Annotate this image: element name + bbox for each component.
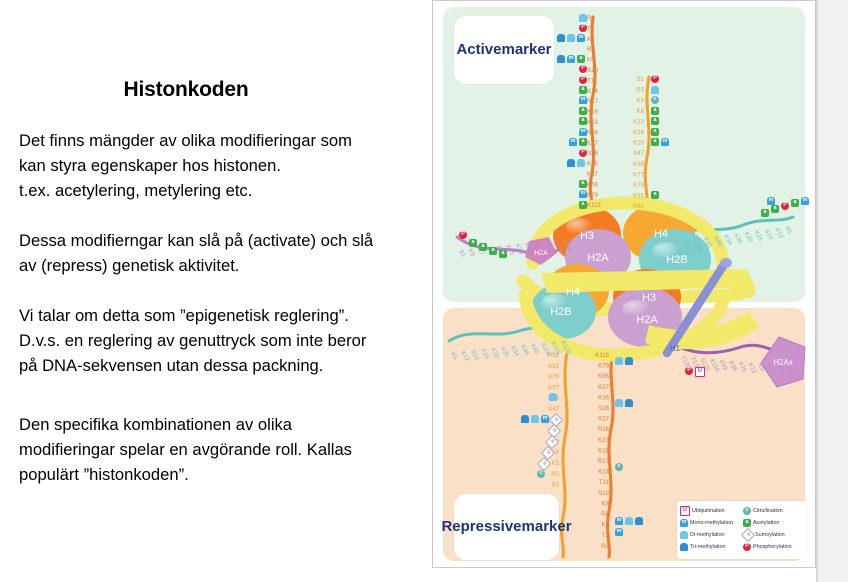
legend-item-tri-methylation: Tri-methylation: [680, 541, 741, 553]
page-right-margin: [818, 0, 848, 582]
modification-badge: a: [489, 247, 497, 255]
modification-badge: [549, 393, 557, 401]
residue-label: K20: [633, 140, 644, 147]
residue-label: K79: [548, 374, 559, 381]
modification-badge: P: [781, 202, 789, 210]
modification-badge: m: [541, 415, 549, 423]
residue-label: K18: [598, 447, 609, 454]
slide-canvas: Histonkoden Det finns mängder av olika m…: [0, 0, 848, 582]
residue-label: K4: [602, 522, 610, 529]
modification-badge: [625, 357, 633, 365]
residue-label: K5: [783, 225, 793, 235]
modification-badge: c: [651, 96, 659, 104]
modification-badge: P: [579, 76, 587, 84]
residue-label: K12: [773, 227, 785, 240]
modification-badge: a: [579, 117, 587, 125]
residue-label: K115: [587, 202, 601, 209]
modification-badge: a: [791, 199, 799, 207]
residue-label: K36: [598, 394, 609, 401]
modification-badge: a: [577, 55, 585, 63]
residue-label: K91: [633, 193, 644, 200]
modification-badge: a: [771, 205, 779, 213]
linker-histone-label: H1: [670, 344, 681, 353]
residue-label: S14: [469, 349, 481, 362]
residue-label: S10: [587, 67, 598, 74]
modification-badge: m: [579, 96, 587, 104]
residue-label: S10: [598, 490, 609, 497]
modification-badge: m: [615, 517, 623, 525]
sumoylation-icon: s: [741, 528, 755, 542]
acetylation-icon: a: [743, 519, 751, 527]
core-label-h3-bottom: H3: [642, 292, 656, 304]
residue-label: K36: [587, 161, 598, 168]
tail-labels-h2b-bottom: K5K12S14K15K20K30K34K46K85K108K116K120: [449, 340, 572, 363]
residue-label: K85: [529, 343, 541, 356]
histone-code-figure: H3 H4 H2A H2B H4 H3 H2B H2A H1 H2Ax H2A …: [432, 0, 816, 568]
figure-inner: H3 H4 H2A H2B H4 H3 H2B H2A H1 H2Ax H2A …: [437, 5, 811, 563]
modification-badge: a: [579, 138, 587, 146]
modification-badge: P: [459, 231, 467, 239]
legend-label: Mono-methylation: [690, 520, 733, 526]
legend-item-ubiquitination: UUbiquitination: [680, 505, 741, 517]
residue-label: K46: [519, 344, 531, 357]
modification-badge: P: [579, 65, 587, 73]
modification-badge: [531, 415, 539, 423]
modification-badge: m: [577, 34, 585, 42]
residue-label: K5: [449, 351, 459, 361]
modification-badge: [521, 415, 529, 423]
residue-label: S1: [457, 249, 467, 259]
residue-label: T11: [599, 479, 610, 486]
core-label-h2b-bottom: H2B: [550, 306, 571, 318]
residue-label: K77: [548, 384, 559, 391]
residue-label: K14: [598, 469, 609, 476]
residue-label: K27: [598, 416, 609, 423]
modification-badge: a: [579, 180, 587, 188]
residue-label: S28: [598, 405, 609, 412]
residue-label: R17: [587, 98, 599, 105]
modification-badge: m: [615, 528, 623, 536]
residue-label: K79: [633, 182, 644, 189]
ubiquitination-icon: U: [680, 506, 690, 516]
residue-label: R92: [633, 203, 645, 210]
residue-label: K56: [598, 373, 609, 380]
residue-label: K91: [548, 363, 559, 370]
residue-label: R8: [587, 46, 595, 53]
modification-badge: [557, 55, 565, 63]
residue-label: K37: [598, 384, 609, 391]
residue-label: K18: [587, 109, 598, 116]
modification-badge: a: [651, 128, 659, 136]
residue-label: R26: [587, 129, 599, 136]
residue-label: K14: [587, 88, 598, 95]
modification-badge: a: [579, 107, 587, 115]
modification-badge: a: [651, 138, 659, 146]
body-paragraph-3: Vi talar om detta som ”epigenetisk regle…: [19, 303, 431, 378]
modification-badge: a: [479, 243, 487, 251]
modification-badge: c: [537, 470, 545, 478]
tail-labels-h4-top: S1R3K5K8K12K16K20S47K59K77K79K91R92: [633, 76, 645, 210]
legend-label: Tri-methylation: [690, 544, 725, 550]
core-label-h2b-top: H2B: [666, 254, 687, 266]
modification-badge: [625, 517, 633, 525]
residue-label: K30: [499, 346, 511, 359]
citrullination-icon: c: [743, 507, 751, 515]
modification-badge: a: [579, 201, 587, 209]
legend-label: Ubiquitination: [692, 508, 725, 514]
mono-methylation-icon: m: [680, 519, 688, 527]
residue-label: R17: [598, 458, 610, 465]
residue-label: K4: [587, 36, 595, 43]
residue-label: K9: [602, 500, 610, 507]
modification-badge: [567, 34, 575, 42]
legend-label: Citrullination: [753, 508, 783, 514]
legend-item-acetylation: aAcetylation: [743, 517, 804, 529]
modification-badge: a: [499, 250, 507, 258]
residue-label: S1: [637, 76, 645, 83]
active-marker-label: Activemarker: [454, 16, 554, 84]
legend-item-sumoylation: sSumoylation: [743, 529, 804, 541]
modification-badge: [577, 159, 585, 167]
residue-label: K115: [595, 352, 609, 359]
di-methylation-icon: [680, 531, 688, 539]
residue-label: K27: [587, 140, 598, 147]
residue-label: R26: [598, 426, 610, 433]
modification-badge: a: [469, 239, 477, 247]
modification-badge: c: [615, 463, 623, 471]
residue-label: K20: [743, 231, 755, 244]
repressive-marker-label: Repressivemarker: [454, 494, 559, 560]
legend-label: Acetylation: [753, 520, 779, 526]
legend-item-phosphorylation: PPhosphorylation: [743, 541, 804, 553]
residue-label: K5: [467, 248, 477, 258]
modification-badge: a: [651, 191, 659, 199]
residue-label: T3: [587, 25, 595, 32]
modification-badge: [579, 14, 587, 22]
legend-item-mono-methylation: mMono-methylation: [680, 517, 741, 529]
residue-label: S47: [633, 150, 644, 157]
modification-badge: m: [801, 197, 809, 205]
residue-label: K79: [598, 363, 609, 370]
residue-label: K15: [479, 348, 491, 361]
legend-item-di-methylation: Di-methylation: [680, 529, 741, 541]
legend-item-citrullination: cCitrullination: [743, 505, 804, 517]
residue-label: K9: [587, 57, 595, 64]
residue-label: S1: [552, 482, 560, 489]
residue-label: T11: [587, 77, 598, 84]
modification-badge: [557, 34, 565, 42]
phosphorylation-icon: P: [743, 543, 751, 551]
residue-label: K56: [587, 181, 598, 188]
core-label-h4-bottom: H4: [566, 286, 580, 298]
residue-label: K37: [587, 171, 598, 178]
modification-badge: [615, 399, 623, 407]
modification-badge: m: [567, 55, 575, 63]
core-label-h3-top: H3: [580, 230, 594, 242]
residue-label: K79: [587, 192, 598, 199]
residue-label: R2: [601, 543, 609, 550]
residue-label: K30: [732, 232, 744, 245]
page-title: Histonkoden: [0, 78, 372, 102]
modification-badge: [615, 357, 623, 365]
residue-label: S47: [548, 406, 559, 413]
residue-label: K12: [459, 350, 471, 363]
modification-badge: a: [579, 86, 587, 94]
residue-label: K8: [637, 108, 645, 115]
legend-label: Di-methylation: [690, 532, 724, 538]
residue-label: K23: [598, 437, 609, 444]
body-paragraph-1: Det finns mängder av olika modifieringar…: [19, 128, 431, 203]
modification-badge: m: [661, 138, 669, 146]
core-label-h2a-bottom: H2A: [636, 314, 658, 326]
residue-label: K77: [633, 171, 644, 178]
modification-legend: UUbiquitinationcCitrullinationmMono-meth…: [677, 501, 807, 559]
residue-label: K16: [633, 129, 644, 136]
modification-badge: a: [651, 117, 659, 125]
modification-badge: [625, 399, 633, 407]
core-label-h2a-top: H2A: [587, 252, 609, 264]
residue-label: R8: [601, 511, 609, 518]
residue-label: K59: [633, 161, 644, 168]
residue-label: R3: [551, 471, 559, 478]
modification-badge: a: [761, 209, 769, 217]
modification-badge: m: [579, 190, 587, 198]
residue-label: K34: [509, 345, 521, 358]
modification-badge: a: [651, 107, 659, 115]
residue-label: K15: [753, 229, 765, 242]
modification-badge: [567, 159, 575, 167]
modification-badge: P: [685, 367, 693, 375]
residue-label: K20: [489, 347, 501, 360]
modification-badge: P: [579, 24, 587, 32]
modification-badge: m: [569, 138, 577, 146]
residue-label: S28: [587, 150, 598, 157]
modification-badge: [635, 517, 643, 525]
modification-badge: [651, 86, 659, 94]
residue-label: T3: [602, 532, 610, 539]
body-paragraph-2: Dessa modifierngar kan slå på (activate)…: [19, 228, 431, 278]
core-label-h4-top: H4: [654, 228, 668, 240]
modification-badge: U: [695, 367, 705, 377]
residue-label: K5: [637, 97, 645, 104]
residue-label: R2: [587, 15, 595, 22]
modification-badge: P: [579, 149, 587, 157]
legend-label: Sumoylation: [755, 532, 785, 538]
residue-label: R3: [636, 87, 644, 94]
residue-label: K12: [633, 118, 644, 125]
residue-label: K23: [587, 119, 598, 126]
modification-badge: m: [767, 197, 775, 205]
residue-label: K5: [552, 460, 560, 467]
tri-methylation-icon: [680, 543, 688, 551]
modification-badge: m: [579, 128, 587, 136]
text-panel: Histonkoden Det finns mängder av olika m…: [0, 0, 432, 582]
nucleosome-artwork: H3 H4 H2A H2B H4 H3 H2B H2A H1 H2Ax H2A …: [437, 5, 811, 563]
residue-label: S14: [763, 228, 775, 241]
modification-badge: P: [651, 75, 659, 83]
legend-label: Phosphorylation: [753, 544, 792, 550]
body-paragraph-4: Den specifika kombinationen av olika mod…: [19, 412, 431, 487]
